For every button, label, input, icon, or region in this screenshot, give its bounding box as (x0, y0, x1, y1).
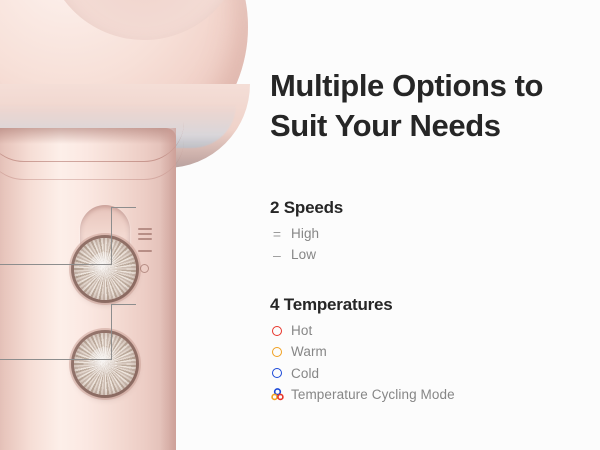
list-item-cold: Cold (270, 363, 455, 384)
dryer-handle-arc-lower (0, 140, 184, 180)
feature-group-speeds: 2 Speeds = High – Low (270, 198, 343, 266)
high-mark-line-2 (138, 233, 152, 235)
infographic-canvas: Multiple Options to Suit Your Needs 2 Sp… (0, 0, 600, 450)
list-item-label: Hot (291, 320, 312, 341)
speed-selector-knob[interactable] (74, 238, 136, 300)
feature-group-temperatures: 4 Temperatures Hot Warm Cold (270, 295, 455, 405)
feature-group-temperatures-title: 4 Temperatures (270, 295, 455, 315)
temperature-selector-knob[interactable] (74, 333, 136, 395)
ring-icon-orange (270, 347, 284, 357)
speed-indicator-marks (138, 228, 158, 280)
ring-icon-red (270, 326, 284, 336)
list-item-label: Temperature Cycling Mode (291, 384, 455, 405)
low-mark-line (138, 250, 152, 252)
single-dash-icon: – (270, 248, 284, 262)
tri-color-cycling-icon (270, 388, 284, 401)
list-item-label: Low (291, 244, 316, 265)
off-mark-circle (140, 264, 149, 273)
list-item-label: Cold (291, 363, 319, 384)
list-item-label: Warm (291, 341, 327, 362)
list-item-cycling-mode: Temperature Cycling Mode (270, 384, 455, 405)
text-panel: Multiple Options to Suit Your Needs 2 Sp… (270, 0, 600, 450)
product-photo-hair-dryer (0, 0, 240, 450)
headline-line-1: Multiple Options to (270, 68, 543, 103)
high-mark-line-3 (138, 238, 152, 240)
dryer-handle-edge-shadow (160, 128, 176, 450)
page-title: Multiple Options to Suit Your Needs (270, 66, 590, 145)
high-mark-line-1 (138, 228, 152, 230)
headline-line-2: Suit Your Needs (270, 106, 590, 146)
ring-icon-blue (270, 368, 284, 378)
double-bar-icon: = (270, 227, 284, 241)
list-item-warm: Warm (270, 341, 455, 362)
feature-group-speeds-title: 2 Speeds (270, 198, 343, 218)
list-item-low: – Low (270, 244, 343, 265)
list-item-high: = High (270, 223, 343, 244)
list-item-label: High (291, 223, 319, 244)
list-item-hot: Hot (270, 320, 455, 341)
